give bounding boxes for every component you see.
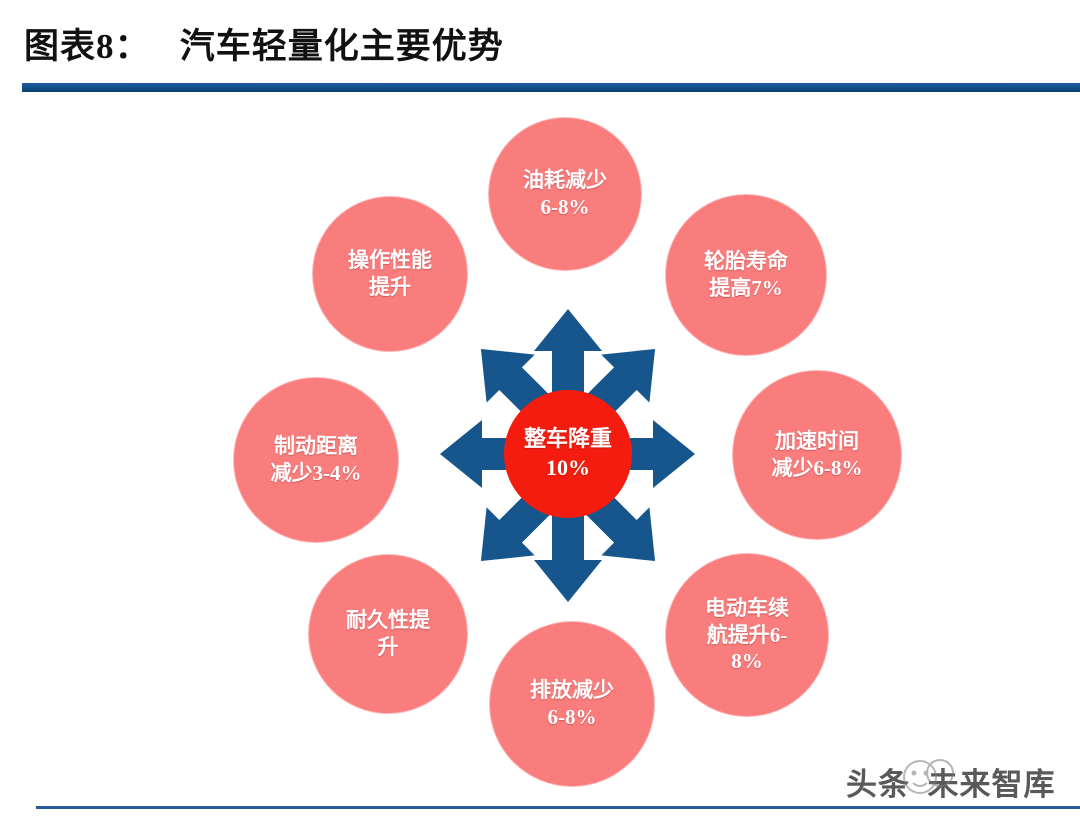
watermark-logo-icon [898, 757, 962, 799]
page-title: 图表8： 汽车轻量化主要优势 [24, 18, 504, 69]
watermark: 头条 未来智库 [846, 757, 1068, 803]
node-durability[interactable]: 耐久性提 升 [309, 555, 467, 713]
figure-header: 图表8： 汽车轻量化主要优势 [0, 0, 1080, 96]
node-braking-distance[interactable]: 制动距离 减少3-4% [234, 378, 398, 542]
node-label: 耐久性提 升 [336, 607, 440, 661]
node-label: 操作性能 提升 [338, 247, 442, 301]
node-label: 排放减少 6-8% [520, 677, 624, 731]
node-handling-performance[interactable]: 操作性能 提升 [313, 197, 467, 351]
title-underline-rule [22, 83, 1080, 92]
node-acceleration-time[interactable]: 加速时间 减少6-8% [733, 371, 901, 539]
node-label: 轮胎寿命 提高7% [694, 248, 798, 302]
node-tire-life[interactable]: 轮胎寿命 提高7% [666, 195, 826, 355]
figure-page: 图表8： 汽车轻量化主要优势 [0, 0, 1080, 818]
radial-diagram: 油耗减少 6-8% 轮胎寿命 提高7% 加速时间 减少6-8% 电动车续 航提升… [0, 96, 1080, 796]
node-ev-range[interactable]: 电动车续 航提升6- 8% [666, 554, 828, 716]
node-emissions[interactable]: 排放减少 6-8% [490, 622, 654, 786]
node-label: 加速时间 减少6-8% [762, 428, 873, 482]
node-fuel-consumption[interactable]: 油耗减少 6-8% [489, 118, 641, 270]
hub-label: 整车降重10% [504, 425, 632, 482]
footer-rule [36, 806, 1080, 809]
hub-vehicle-weight-reduction[interactable]: 整车降重10% [504, 390, 632, 518]
node-label: 油耗减少 6-8% [513, 167, 617, 221]
node-label: 电动车续 航提升6- 8% [695, 595, 799, 676]
node-label: 制动距离 减少3-4% [261, 433, 372, 487]
